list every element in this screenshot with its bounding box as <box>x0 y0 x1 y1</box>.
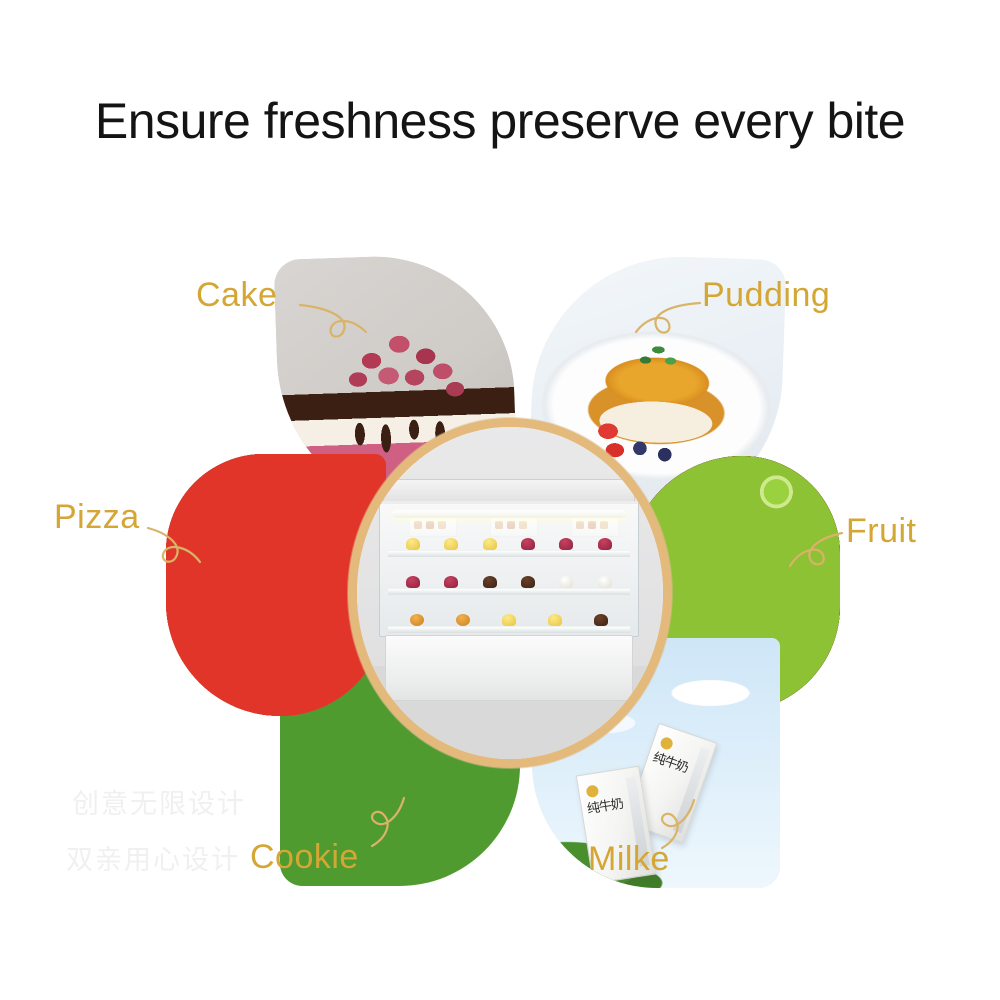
case-shelf <box>388 626 630 633</box>
label-pudding[interactable]: Pudding <box>702 276 830 315</box>
case-interior-light <box>392 510 626 518</box>
case-shelf <box>388 588 630 595</box>
page-title: Ensure freshness preserve every bite <box>0 92 1000 150</box>
label-pizza[interactable]: Pizza <box>54 498 140 537</box>
case-glass-front <box>379 501 639 637</box>
label-fruit[interactable]: Fruit <box>846 512 917 551</box>
food-category-wheel: 纯牛奶 纯牛奶 <box>160 248 840 896</box>
watermark-line-2: 双亲用心设计 <box>66 838 240 877</box>
watermark-line-1: 创意无限设计 <box>72 782 246 821</box>
pastry-row <box>394 532 624 550</box>
pastry-row <box>394 608 624 626</box>
display-case-photo <box>357 427 663 759</box>
case-top-panel <box>383 479 635 503</box>
label-cookie[interactable]: Cookie <box>250 838 359 877</box>
label-milke[interactable]: Milke <box>588 840 670 879</box>
carton-logo-icon <box>586 784 600 798</box>
label-cake[interactable]: Cake <box>196 276 277 315</box>
display-case <box>379 479 639 701</box>
center-product-spotlight[interactable] <box>348 418 672 768</box>
case-shelf <box>388 550 630 557</box>
case-base-cabinet <box>385 635 633 701</box>
carton-label-text: 纯牛奶 <box>586 798 624 816</box>
pastry-row <box>394 570 624 588</box>
